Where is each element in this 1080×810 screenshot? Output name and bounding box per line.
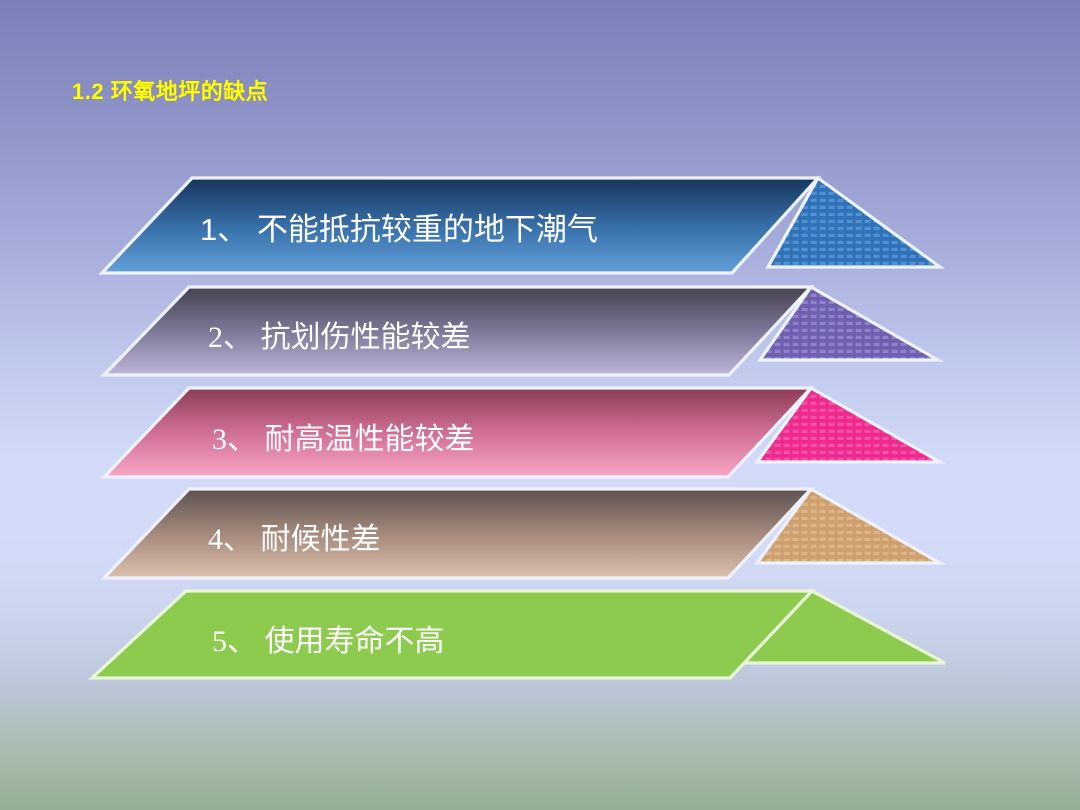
list-item[interactable]: 5、 使用寿命不高 bbox=[0, 583, 1080, 695]
banner-shape-1 bbox=[0, 170, 1080, 288]
banner-list: 1、 不能抵抗较重的地下潮气 2、 抗划伤性能较差 bbox=[0, 0, 1080, 810]
list-item[interactable]: 2、 抗划伤性能较差 bbox=[0, 279, 1080, 391]
list-item[interactable]: 3、 耐高温性能较差 bbox=[0, 380, 1080, 492]
banner-shape-5 bbox=[0, 583, 1080, 695]
banner-shape-3 bbox=[0, 380, 1080, 492]
banner-shape-4 bbox=[0, 481, 1080, 593]
list-item[interactable]: 1、 不能抵抗较重的地下潮气 bbox=[0, 170, 1080, 288]
banner-shape-2 bbox=[0, 279, 1080, 391]
list-item[interactable]: 4、 耐候性差 bbox=[0, 481, 1080, 593]
